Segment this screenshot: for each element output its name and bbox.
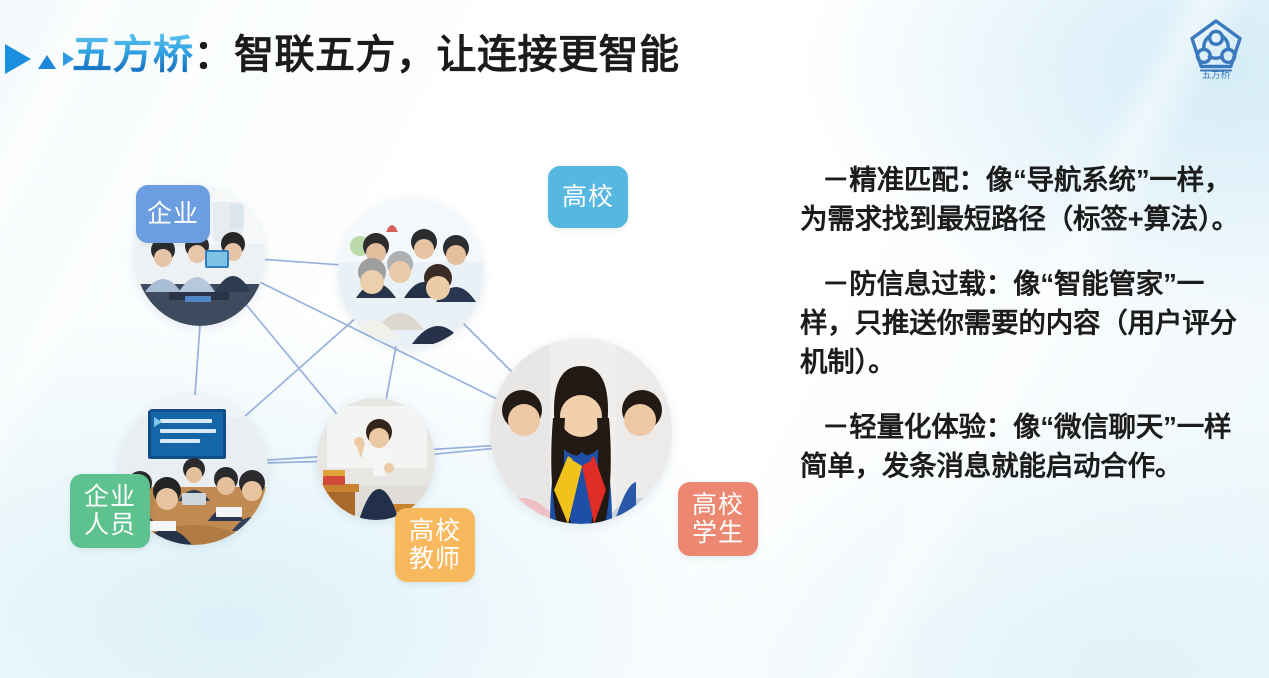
tag-teacher-label-line2: 教师 [409,545,461,573]
triangle-up-small-icon [38,55,56,69]
logo-mark-icon: 五方桥 [1185,16,1247,80]
tag-student[interactable]: 高校 学生 [678,482,758,556]
tag-student-label-line1: 高校 [692,491,744,519]
bullet-lightweight: －轻量化体验：像“微信聊天”一样简单，发条消息就能启动合作。 [800,407,1246,485]
node-teacher-photo [317,398,435,520]
students-illustration [490,338,672,524]
tag-enterprise-staff-label-line2: 人员 [84,511,136,539]
slide-header: 五方桥：智联五方，让连接更智能 五方桥 [0,0,1269,112]
svg-text:五方桥: 五方桥 [1202,69,1231,80]
tag-teacher-label-line1: 高校 [409,517,461,545]
bullet-precise-matching: －精准匹配：像“导航系统”一样，为需求找到最短路径（标签+算法）。 [800,160,1246,238]
title-brand: 五方桥 [72,33,194,77]
tag-university-label: 高校 [562,183,614,211]
tag-enterprise-label: 企业 [147,200,199,228]
logo-wordmark: 五方桥 [1200,69,1232,80]
node-university-photo [338,198,483,348]
tag-teacher[interactable]: 高校 教师 [395,508,475,582]
slide-root: 五方桥：智联五方，让连接更智能 五方桥 [0,0,1269,678]
bullet-info-overload: －防信息过载：像“智能管家”一样，只推送你需要的内容（用户评分机制）。 [800,264,1246,381]
tag-enterprise[interactable]: 企业 [136,185,210,243]
title-rest: ：智联五方，让连接更智能 [194,33,680,77]
wufangqiao-logo: 五方桥 [1185,16,1247,80]
tag-student-label-line2: 学生 [692,519,744,547]
node-university[interactable] [338,198,483,348]
node-teacher[interactable] [317,398,435,520]
university-group-illustration [338,198,483,348]
tag-university[interactable]: 高校 [548,166,628,228]
node-student[interactable] [490,338,672,524]
page-title: 五方桥：智联五方，让连接更智能 [72,31,680,79]
node-student-photo [490,338,672,524]
tag-enterprise-staff[interactable]: 企业 人员 [70,474,150,548]
title-decoration [5,44,74,74]
tag-enterprise-staff-label-line1: 企业 [84,483,136,511]
teacher-classroom-illustration [317,398,435,520]
feature-bullet-list: －精准匹配：像“导航系统”一样，为需求找到最短路径（标签+算法）。 －防信息过载… [800,160,1246,485]
five-party-network-diagram: 企业 高校 企业 人员 高校 教师 高校 学生 [70,140,800,610]
triangle-right-large-icon [5,44,31,74]
